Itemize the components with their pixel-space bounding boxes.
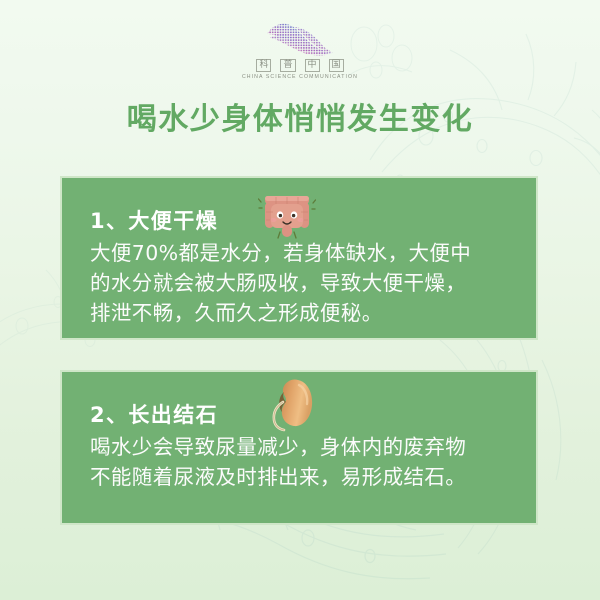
science-communication-logo-icon — [261, 18, 339, 58]
page-title: 喝水少身体悄悄发生变化 — [0, 100, 600, 140]
logo-hanzi-2: 普 — [280, 59, 295, 72]
logo-hanzi-3: 中 — [305, 59, 320, 72]
logo-hanzi-4: 国 — [329, 59, 344, 72]
card-1-line-3: 排泄不畅，久而久之形成便秘。 — [90, 298, 510, 328]
logo-latin-text: CHINA SCIENCE COMMUNICATION — [0, 74, 600, 81]
card-2-line-1: 喝水少会导致尿量减少，身体内的废弃物 — [90, 432, 510, 462]
card-1-line-1: 大便70%都是水分，若身体缺水，大便中 — [90, 238, 510, 268]
logo-hanzi-row: 科 普 中 国 — [0, 59, 600, 72]
card-2-heading: 2、长出结石 — [90, 400, 218, 430]
card-2-line-2: 不能随着尿液及时排出来，易形成结石。 — [90, 462, 510, 492]
kidney-icon — [268, 376, 314, 432]
intestine-icon — [258, 192, 316, 240]
info-card-kidney-stones: 2、长出结石 — [60, 370, 538, 525]
card-2-head: 2、长出结石 — [90, 388, 510, 430]
card-1-body: 大便70%都是水分，若身体缺水，大便中 的水分就会被大肠吸收，导致大便干燥， 排… — [90, 238, 510, 328]
card-1-heading: 1、大便干燥 — [90, 206, 218, 236]
logo-hanzi-1: 科 — [256, 59, 271, 72]
logo-block: 科 普 中 国 CHINA SCIENCE COMMUNICATION — [0, 18, 600, 81]
card-2-body: 喝水少会导致尿量减少，身体内的废弃物 不能随着尿液及时排出来，易形成结石。 — [90, 432, 510, 492]
info-card-constipation: 1、大便干燥 — [60, 176, 538, 340]
card-1-line-2: 的水分就会被大肠吸收，导致大便干燥， — [90, 268, 510, 298]
infographic-poster: 科 普 中 国 CHINA SCIENCE COMMUNICATION 喝水少身… — [0, 0, 600, 600]
card-1-head: 1、大便干燥 — [90, 194, 510, 236]
